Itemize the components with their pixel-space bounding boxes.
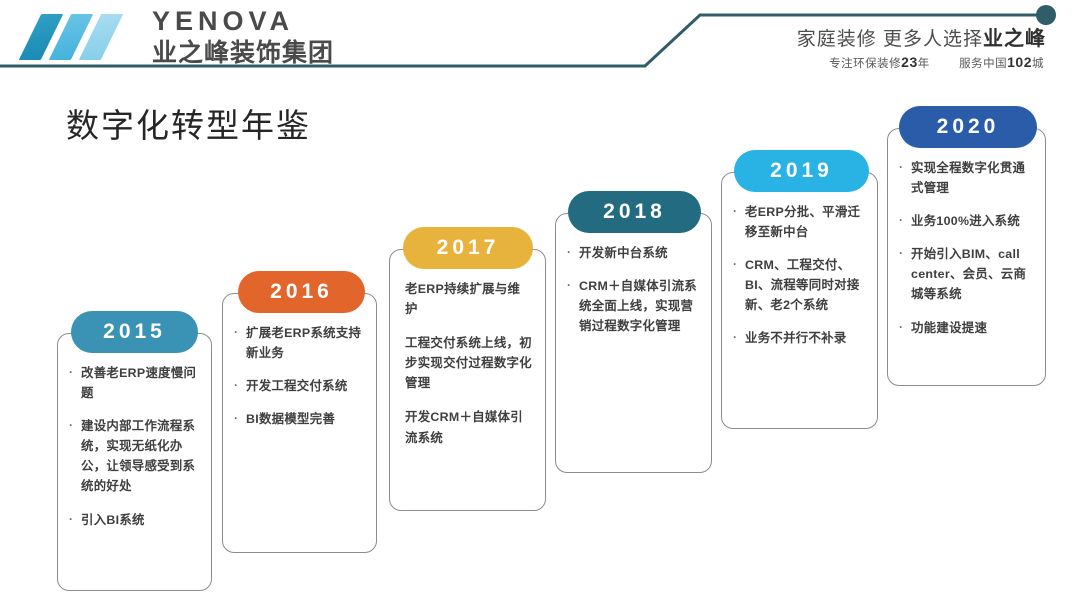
list-item: ·扩展老ERP系统支持新业务 <box>234 323 367 363</box>
list-item-text: 扩展老ERP系统支持新业务 <box>246 323 367 363</box>
list-item-text: 功能建设提速 <box>911 318 1036 338</box>
bullet-dot-icon: · <box>234 376 246 396</box>
list-item: ·开始引入BIM、call center、会员、云商城等系统 <box>899 244 1036 304</box>
list-item-text: 引入BI系统 <box>81 510 202 530</box>
list-item: ·改善老ERP速度慢问题 <box>69 363 202 403</box>
bullet-dot-icon: · <box>899 158 911 198</box>
list-item: 老ERP持续扩展与维护 <box>405 279 532 319</box>
year-badge-2020[interactable]: 2020 <box>899 106 1037 148</box>
year-badge-2017[interactable]: 2017 <box>403 227 533 269</box>
bullet-dot-icon: · <box>733 328 745 348</box>
list-item: 工程交付系统上线，初步实现交付过程数字化管理 <box>405 333 532 393</box>
list-item-text: 工程交付系统上线，初步实现交付过程数字化管理 <box>405 333 532 393</box>
card-body-2018: ·开发新中台系统·CRM＋自媒体引流系统全面上线，实现营销过程数字化管理 <box>567 243 702 349</box>
list-item-text: BI数据模型完善 <box>246 409 367 429</box>
list-item: ·建设内部工作流程系统，实现无纸化办公，让领导感受到系统的好处 <box>69 416 202 496</box>
list-item: 开发CRM＋自媒体引流系统 <box>405 407 532 447</box>
bullet-dot-icon: · <box>234 323 246 363</box>
card-body-2017: 老ERP持续扩展与维护工程交付系统上线，初步实现交付过程数字化管理开发CRM＋自… <box>405 279 532 462</box>
bullet-dot-icon: · <box>69 363 81 403</box>
bullet-dot-icon: · <box>567 276 579 336</box>
list-item-text: 开始引入BIM、call center、会员、云商城等系统 <box>911 244 1036 304</box>
list-item-text: 老ERP持续扩展与维护 <box>405 279 532 319</box>
list-item: ·功能建设提速 <box>899 318 1036 338</box>
list-item: ·业务不并行不补录 <box>733 328 868 348</box>
list-item-text: 建设内部工作流程系统，实现无纸化办公，让领导感受到系统的好处 <box>81 416 202 496</box>
card-body-2020: ·实现全程数字化贯通式管理·业务100%进入系统·开始引入BIM、call ce… <box>899 158 1036 351</box>
list-item-text: 老ERP分批、平滑迁移至新中台 <box>745 202 868 242</box>
timeline-container: 2015·改善老ERP速度慢问题·建设内部工作流程系统，实现无纸化办公，让领导感… <box>0 0 1080 608</box>
year-badge-2019[interactable]: 2019 <box>734 150 869 192</box>
bullet-dot-icon: · <box>899 211 911 231</box>
list-item: ·BI数据模型完善 <box>234 409 367 429</box>
card-body-2015: ·改善老ERP速度慢问题·建设内部工作流程系统，实现无纸化办公，让领导感受到系统… <box>69 363 202 543</box>
bullet-dot-icon: · <box>69 510 81 530</box>
list-item-text: 开发工程交付系统 <box>246 376 367 396</box>
list-item: ·实现全程数字化贯通式管理 <box>899 158 1036 198</box>
bullet-dot-icon: · <box>899 318 911 338</box>
list-item: ·引入BI系统 <box>69 510 202 530</box>
year-badge-2018[interactable]: 2018 <box>568 191 701 233</box>
bullet-dot-icon: · <box>69 416 81 496</box>
card-body-2016: ·扩展老ERP系统支持新业务·开发工程交付系统·BI数据模型完善 <box>234 323 367 442</box>
list-item: ·CRM＋自媒体引流系统全面上线，实现营销过程数字化管理 <box>567 276 702 336</box>
year-badge-2016[interactable]: 2016 <box>238 271 365 313</box>
bullet-dot-icon: · <box>733 202 745 242</box>
bullet-dot-icon: · <box>899 244 911 304</box>
list-item-text: 业务不并行不补录 <box>745 328 868 348</box>
bullet-dot-icon: · <box>567 243 579 263</box>
year-badge-2015[interactable]: 2015 <box>71 311 198 353</box>
list-item-text: CRM、工程交付、BI、流程等同时对接新、老2个系统 <box>745 255 868 315</box>
list-item: ·老ERP分批、平滑迁移至新中台 <box>733 202 868 242</box>
bullet-dot-icon: · <box>234 409 246 429</box>
list-item: ·业务100%进入系统 <box>899 211 1036 231</box>
list-item-text: CRM＋自媒体引流系统全面上线，实现营销过程数字化管理 <box>579 276 702 336</box>
list-item-text: 业务100%进入系统 <box>911 211 1036 231</box>
list-item: ·开发工程交付系统 <box>234 376 367 396</box>
list-item-text: 开发CRM＋自媒体引流系统 <box>405 407 532 447</box>
list-item-text: 改善老ERP速度慢问题 <box>81 363 202 403</box>
card-body-2019: ·老ERP分批、平滑迁移至新中台·CRM、工程交付、BI、流程等同时对接新、老2… <box>733 202 868 362</box>
list-item-text: 实现全程数字化贯通式管理 <box>911 158 1036 198</box>
list-item: ·开发新中台系统 <box>567 243 702 263</box>
bullet-dot-icon: · <box>733 255 745 315</box>
list-item: ·CRM、工程交付、BI、流程等同时对接新、老2个系统 <box>733 255 868 315</box>
list-item-text: 开发新中台系统 <box>579 243 702 263</box>
